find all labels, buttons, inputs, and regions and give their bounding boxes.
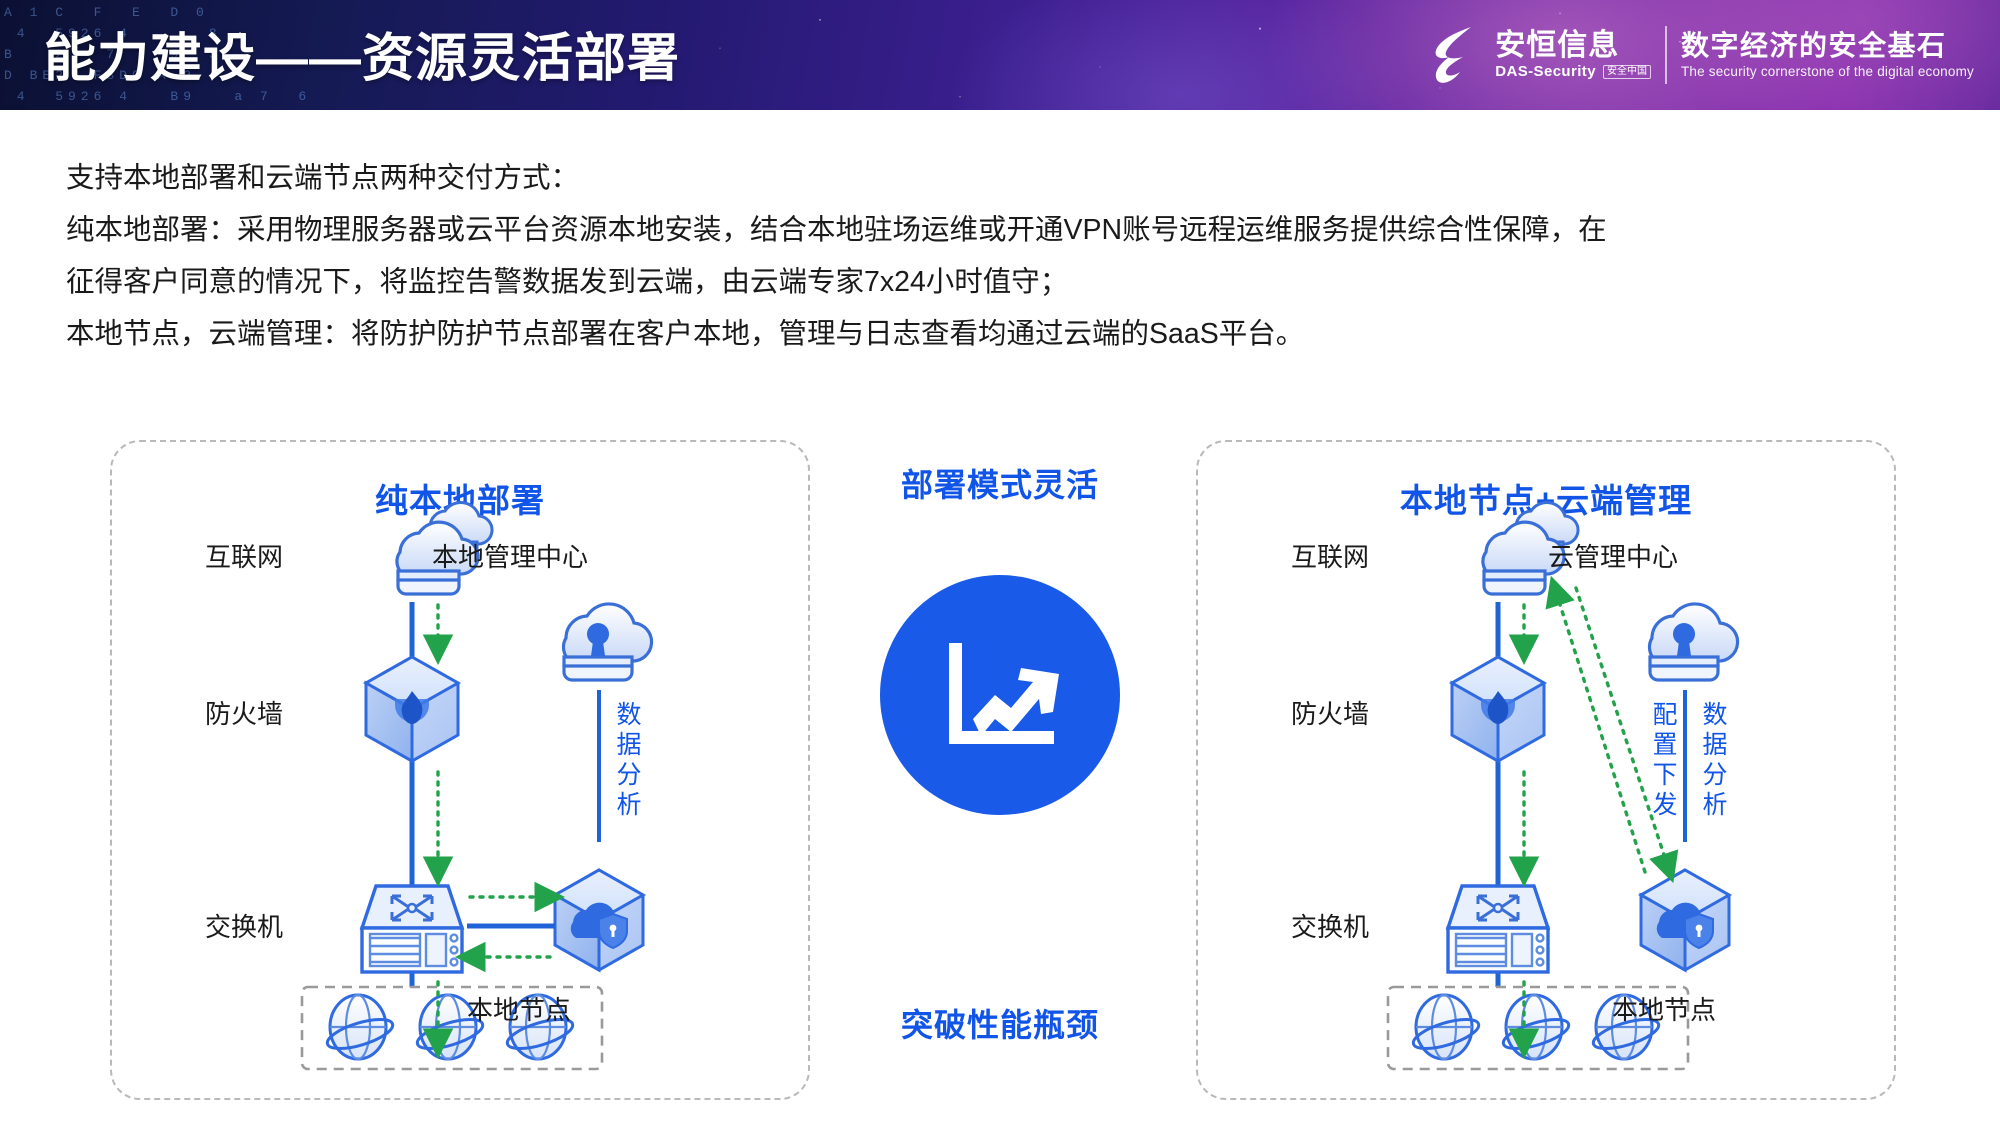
- body-line-1: 支持本地部署和云端节点两种交付方式：: [66, 152, 1946, 204]
- panel-pure-local-deployment: 纯本地部署: [110, 440, 810, 1100]
- firewall-icon: [366, 657, 458, 761]
- cloud-management-center-icon: [1649, 604, 1737, 680]
- logo-slogan-en: The security cornerstone of the digital …: [1681, 65, 1974, 79]
- flow-arrows: [438, 605, 548, 1042]
- label-switch: 交换机: [205, 907, 283, 944]
- logo-brand-badge: 安全中国: [1603, 65, 1651, 79]
- label-data-analysis: 数据分析: [1700, 700, 1730, 820]
- switch-icon: [1448, 886, 1548, 972]
- label-internet: 互联网: [205, 537, 283, 574]
- logo-brand-cn: 安恒信息: [1495, 31, 1651, 61]
- firewall-icon: [1452, 657, 1544, 761]
- growth-chart-icon: [941, 639, 1059, 751]
- logo-brand-block: 安恒信息 DAS-Security 安全中国: [1495, 31, 1651, 79]
- label-switch: 交换机: [1291, 907, 1369, 944]
- flow-arrows: [1524, 588, 1668, 1042]
- logo-slogan-cn: 数字经济的安全基石: [1681, 32, 1974, 60]
- das-security-swoosh-icon: [1427, 24, 1481, 86]
- globe-icon: [1500, 995, 1571, 1059]
- center-bottom-text: 突破性能瓶颈: [830, 1000, 1170, 1046]
- body-line-4: 本地节点，云端管理：将防护防护节点部署在客户本地，管理与日志查看均通过云端的Sa…: [66, 308, 1946, 360]
- label-internet: 互联网: [1291, 537, 1369, 574]
- center-highlight-block: 部署模式灵活 突破性能瓶颈: [830, 430, 1170, 1090]
- logo-brand-en: DAS-Security: [1495, 64, 1596, 79]
- center-circle-badge: [880, 575, 1120, 815]
- label-local-node: 本地节点: [1612, 990, 1716, 1027]
- local-node-icon: [555, 870, 643, 970]
- logo-slogan-block: 数字经济的安全基石 The security cornerstone of th…: [1681, 32, 1974, 79]
- switch-icon: [362, 886, 462, 972]
- label-data-analysis: 数据分析: [614, 700, 644, 820]
- globe-icon: [324, 995, 395, 1059]
- panel-local-node-cloud-management: 本地节点+云端管理: [1196, 440, 1896, 1100]
- logo-divider: [1665, 26, 1667, 84]
- body-line-2: 纯本地部署：采用物理服务器或云平台资源本地安装，结合本地驻场运维或开通VPN账号…: [66, 204, 1946, 256]
- label-config-push: 配置下发: [1650, 700, 1680, 820]
- center-top-text: 部署模式灵活: [830, 460, 1170, 506]
- label-firewall: 防火墙: [1291, 694, 1369, 731]
- brand-logo: 安恒信息 DAS-Security 安全中国 数字经济的安全基石 The sec…: [1427, 18, 1974, 92]
- page-header: A 1 C F E D 0 4 5926 4 8 B 2 7 9 3 D BE2…: [0, 0, 2000, 110]
- diagram-stage: 纯本地部署: [0, 430, 2000, 1120]
- page-title: 能力建设——资源灵活部署: [44, 16, 680, 91]
- local-management-center-icon: [563, 604, 651, 680]
- body-paragraphs: 支持本地部署和云端节点两种交付方式： 纯本地部署：采用物理服务器或云平台资源本地…: [66, 152, 1946, 360]
- label-mgmt-center: 云管理中心: [1548, 537, 1678, 574]
- label-firewall: 防火墙: [205, 694, 283, 731]
- local-node-icon: [1641, 870, 1729, 970]
- body-line-3: 征得客户同意的情况下，将监控告警数据发到云端，由云端专家7x24小时值守；: [66, 256, 1946, 308]
- label-local-node: 本地节点: [467, 990, 571, 1027]
- label-mgmt-center: 本地管理中心: [432, 537, 588, 574]
- globe-icon: [1410, 995, 1481, 1059]
